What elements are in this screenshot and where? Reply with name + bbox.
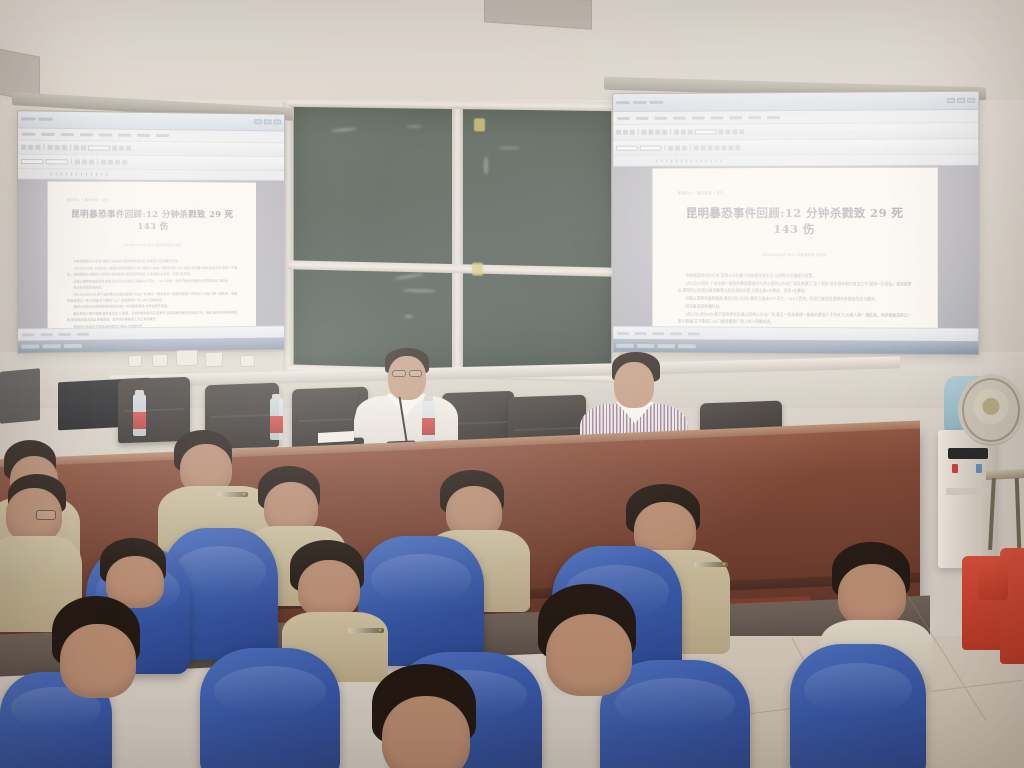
audience-glasses bbox=[36, 510, 56, 520]
document-paragraph: 记者从昆明市政府获悉,截至3月2日6时,事件已造成29人死亡、143人受伤。伤员… bbox=[67, 278, 237, 285]
document-paragraph: 记者从昆明市政府获悉,截至3月2日6时,事件已造成29人死亡、143人受伤。伤员… bbox=[678, 295, 912, 303]
document-kicker: 新闻中心 > 国内新闻 > 正文 bbox=[678, 190, 912, 195]
bottled-water bbox=[422, 400, 435, 442]
left-projection-screen: 新闻中心 > 国内新闻 > 正文 昆明暴恐事件回顾:12 分钟杀戮致 29 死 … bbox=[17, 110, 285, 354]
speaker-right-head bbox=[614, 362, 654, 408]
document-title: 昆明暴恐事件回顾:12 分钟杀戮致 29 死 143 伤 bbox=[67, 210, 237, 233]
ledge-cup bbox=[176, 350, 198, 367]
document-paragraph: 3月1日21时05分,刚下班的李先生路过昆明火车站广场,看见一群身着统一服装的蒙… bbox=[678, 311, 912, 326]
word-window-left: 新闻中心 > 国内新闻 > 正文 昆明暴恐事件回顾:12 分钟杀戮致 29 死 … bbox=[18, 111, 284, 353]
bottled-water bbox=[270, 398, 283, 440]
audience-head bbox=[298, 560, 360, 618]
document-paragraph: 3月1日21时05分,刚下班的李先生路过昆明火车站广场,看见一群身着统一服装的蒙… bbox=[67, 291, 237, 304]
speaker-left-glasses bbox=[392, 370, 406, 377]
document-paragraph: 目击者讲述惊魂时刻。 bbox=[678, 303, 912, 311]
bottled-water bbox=[133, 394, 146, 436]
word-document-canvas[interactable]: 新闻中心 > 国内新闻 > 正文 昆明暴恐事件回顾:12 分钟杀戮致 29 死 … bbox=[18, 179, 284, 329]
document-byline: 2014年03月03日 08:21 来源:新华网 分享到: bbox=[67, 243, 237, 247]
document-paragraph: 3月1日21时许,十余名统一着装的暴徒蒙面持刀冲入昆明火车站广场及售票厅,见人就… bbox=[67, 266, 237, 278]
ledge-cup bbox=[205, 352, 223, 367]
document-page: 新闻中心 > 国内新闻 > 正文 昆明暴恐事件回顾:12 分钟杀戮致 29 死 … bbox=[48, 181, 256, 328]
ledge-cup bbox=[240, 355, 255, 367]
document-paragraph: 中新网昆明3月2日电 昆明火车站暴力恐怖案件发生后,当地警方迅速展开处置。 bbox=[678, 273, 912, 281]
document-paragraph: 目击者讲述惊魂时刻。 bbox=[67, 285, 237, 292]
word-titlebar bbox=[613, 92, 978, 113]
audience-head bbox=[60, 624, 136, 698]
windows-taskbar[interactable] bbox=[18, 338, 284, 353]
ledge-cup bbox=[128, 355, 142, 367]
uniform-epaulette bbox=[694, 562, 728, 567]
executive-chair[interactable] bbox=[118, 377, 190, 444]
water-dispenser-panel bbox=[948, 448, 988, 459]
right-projection-screen: 新闻中心 > 国内新闻 > 正文 昆明暴恐事件回顾:12 分钟杀戮致 29 死 … bbox=[612, 91, 979, 356]
audience-head bbox=[382, 696, 470, 768]
word-window-right: 新闻中心 > 国内新闻 > 正文 昆明暴恐事件回顾:12 分钟杀戮致 29 死 … bbox=[613, 92, 978, 355]
equipment-stand bbox=[0, 368, 40, 423]
water-dispenser-tap-hot[interactable] bbox=[952, 464, 958, 473]
document-byline: 2014年03月03日 08:21 来源:新华网 分享到: bbox=[678, 251, 912, 256]
document-body: 中新网昆明3月2日电 昆明火车站暴力恐怖案件发生后,当地警方迅速展开处置。 3月… bbox=[67, 259, 237, 328]
audience-seat[interactable] bbox=[200, 648, 340, 768]
speaker-left-head bbox=[388, 356, 426, 400]
water-dispenser-drip-tray bbox=[946, 488, 990, 495]
document-paragraph: 中新网昆明3月2日电 昆明火车站暴力恐怖案件发生后,当地警方迅速展开处置。 bbox=[67, 259, 237, 265]
uniform-epaulette bbox=[218, 492, 248, 497]
audience-seat[interactable] bbox=[790, 644, 926, 768]
speaker-left-glasses bbox=[409, 370, 422, 377]
document-paragraph: 据云南省公安厅通报,案件发生后,公安部、云南省委省政府高度重视,立即部署开展侦查… bbox=[67, 310, 237, 323]
word-standard-toolbar[interactable] bbox=[613, 123, 978, 140]
audience-head bbox=[546, 614, 632, 696]
chalkboard bbox=[288, 102, 618, 379]
word-document-canvas[interactable]: 新闻中心 > 国内新闻 > 正文 昆明暴恐事件回顾:12 分钟杀戮致 29 死 … bbox=[613, 165, 978, 328]
document-kicker: 新闻中心 > 国内新闻 > 正文 bbox=[67, 197, 237, 202]
word-formatting-toolbar[interactable] bbox=[613, 139, 978, 156]
audience-head bbox=[838, 564, 906, 626]
document-stack bbox=[318, 431, 354, 443]
document-body: 中新网昆明3月2日电 昆明火车站暴力恐怖案件发生后,当地警方迅速展开处置。 3月… bbox=[678, 273, 912, 328]
red-cloth-bundle bbox=[978, 560, 1008, 600]
electric-fan-guard bbox=[962, 378, 1020, 442]
document-paragraph: 3月1日21时许,十余名统一着装的暴徒蒙面持刀冲入昆明火车站广场及售票厅,见人就… bbox=[678, 281, 912, 296]
uniform-epaulette bbox=[348, 628, 384, 633]
ledge-cup bbox=[152, 354, 168, 367]
water-dispenser-tap-cold[interactable] bbox=[976, 464, 982, 473]
document-page: 新闻中心 > 国内新闻 > 正文 昆明暴恐事件回顾:12 分钟杀戮致 29 死 … bbox=[653, 167, 938, 327]
conference-room-photo: 新闻中心 > 国内新闻 > 正文 昆明暴恐事件回顾:12 分钟杀戮致 29 死 … bbox=[0, 0, 1024, 768]
side-table-leg bbox=[1015, 478, 1021, 548]
document-title: 昆明暴恐事件回顾:12 分钟杀戮致 29 死 143 伤 bbox=[678, 206, 912, 237]
